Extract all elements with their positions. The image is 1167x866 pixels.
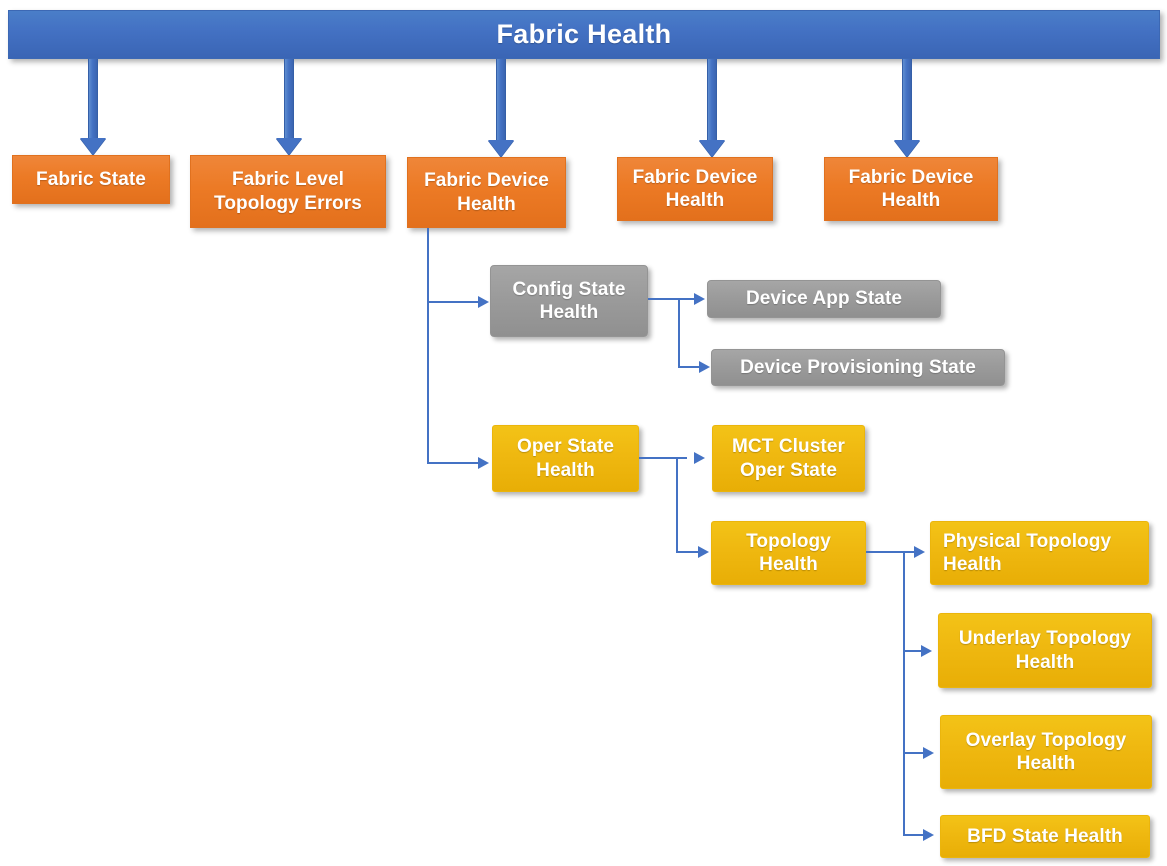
node-label: Underlay Topology Health xyxy=(945,627,1145,673)
arrowhead-to-oper-state xyxy=(478,457,489,469)
node-topology-health[interactable]: Topology Health xyxy=(711,521,866,585)
block-arrow-down-2 xyxy=(280,59,298,155)
node-device-provisioning-state[interactable]: Device Provisioning State xyxy=(711,349,1005,386)
node-label: Device Provisioning State xyxy=(718,356,998,379)
node-label: Fabric State xyxy=(19,168,163,191)
block-arrow-down-4 xyxy=(703,59,721,157)
arrowhead-to-physical-topology-health xyxy=(914,546,925,558)
node-label: Topology Health xyxy=(718,530,859,576)
node-physical-topology-health[interactable]: Physical Topology Health xyxy=(930,521,1149,585)
node-fabric-level-topology-errors[interactable]: Fabric Level Topology Errors xyxy=(190,155,386,228)
node-device-app-state[interactable]: Device App State xyxy=(707,280,941,318)
connector-config-out xyxy=(648,298,698,300)
node-fabric-device-health-2[interactable]: Fabric Device Health xyxy=(617,157,773,221)
connector-to-overlay-topology xyxy=(903,752,925,754)
diagram-canvas: Fabric Health Fabric State Fabric Level … xyxy=(0,0,1167,866)
node-label: Fabric Level Topology Errors xyxy=(197,168,379,214)
node-label: Fabric Device Health xyxy=(624,166,766,212)
node-fabric-device-health-3[interactable]: Fabric Device Health xyxy=(824,157,998,221)
arrowhead-to-underlay-topology-health xyxy=(921,645,932,657)
node-label: Fabric Device Health xyxy=(414,169,559,215)
node-fabric-health-root[interactable]: Fabric Health xyxy=(8,10,1160,59)
node-fabric-state[interactable]: Fabric State xyxy=(12,155,170,204)
arrowhead-to-device-app-state xyxy=(694,293,705,305)
arrowhead-to-topology-health xyxy=(698,546,709,558)
connector-to-oper-state xyxy=(427,462,480,464)
node-label: Physical Topology Health xyxy=(943,530,1142,576)
node-config-state-health[interactable]: Config State Health xyxy=(490,265,648,337)
block-arrow-down-1 xyxy=(84,59,102,155)
arrowhead-to-device-provisioning-state xyxy=(699,361,710,373)
node-fabric-device-health-1[interactable]: Fabric Device Health xyxy=(407,157,566,228)
connector-oper-trunk xyxy=(676,457,678,552)
connector-to-config-state xyxy=(427,301,480,303)
node-label: Fabric Device Health xyxy=(831,166,991,212)
connector-config-trunk xyxy=(678,298,680,366)
node-label: Device App State xyxy=(714,287,934,310)
block-arrow-down-5 xyxy=(898,59,916,157)
connector-oper-out xyxy=(639,457,687,459)
connector-topology-out xyxy=(866,551,916,553)
connector-topology-trunk xyxy=(903,551,905,834)
node-label: MCT Cluster Oper State xyxy=(719,435,858,481)
connector-to-bfd-state xyxy=(903,834,925,836)
arrowhead-to-mct-cluster-oper-state xyxy=(694,452,705,464)
node-mct-cluster-oper-state[interactable]: MCT Cluster Oper State xyxy=(712,425,865,492)
node-oper-state-health[interactable]: Oper State Health xyxy=(492,425,639,492)
arrowhead-to-overlay-topology-health xyxy=(923,747,934,759)
arrowhead-to-config-state xyxy=(478,296,489,308)
connector-device-health-trunk xyxy=(427,228,429,464)
node-label: Fabric Health xyxy=(15,18,1153,51)
node-bfd-state-health[interactable]: BFD State Health xyxy=(940,815,1150,858)
node-label: Oper State Health xyxy=(499,435,632,481)
arrowhead-to-bfd-state-health xyxy=(923,829,934,841)
node-label: Overlay Topology Health xyxy=(947,729,1145,775)
node-label: Config State Health xyxy=(497,278,641,324)
node-underlay-topology-health[interactable]: Underlay Topology Health xyxy=(938,613,1152,688)
node-label: BFD State Health xyxy=(947,825,1143,848)
node-overlay-topology-health[interactable]: Overlay Topology Health xyxy=(940,715,1152,789)
block-arrow-down-3 xyxy=(492,59,510,157)
connector-to-underlay-topology xyxy=(903,650,923,652)
